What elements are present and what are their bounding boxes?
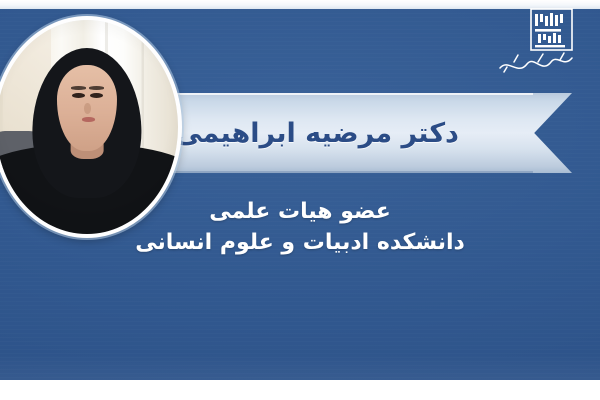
portrait-photo <box>0 16 182 238</box>
logo-script-line <box>500 53 572 72</box>
logo-square-mark <box>531 9 572 50</box>
bottom-white-band <box>0 380 600 400</box>
portrait-vignette <box>0 20 178 234</box>
faculty-announcement-card: دکتر مرضیه ابراهیمی عضو هیات علمی دانشکد… <box>0 0 600 400</box>
university-logo <box>494 6 586 82</box>
